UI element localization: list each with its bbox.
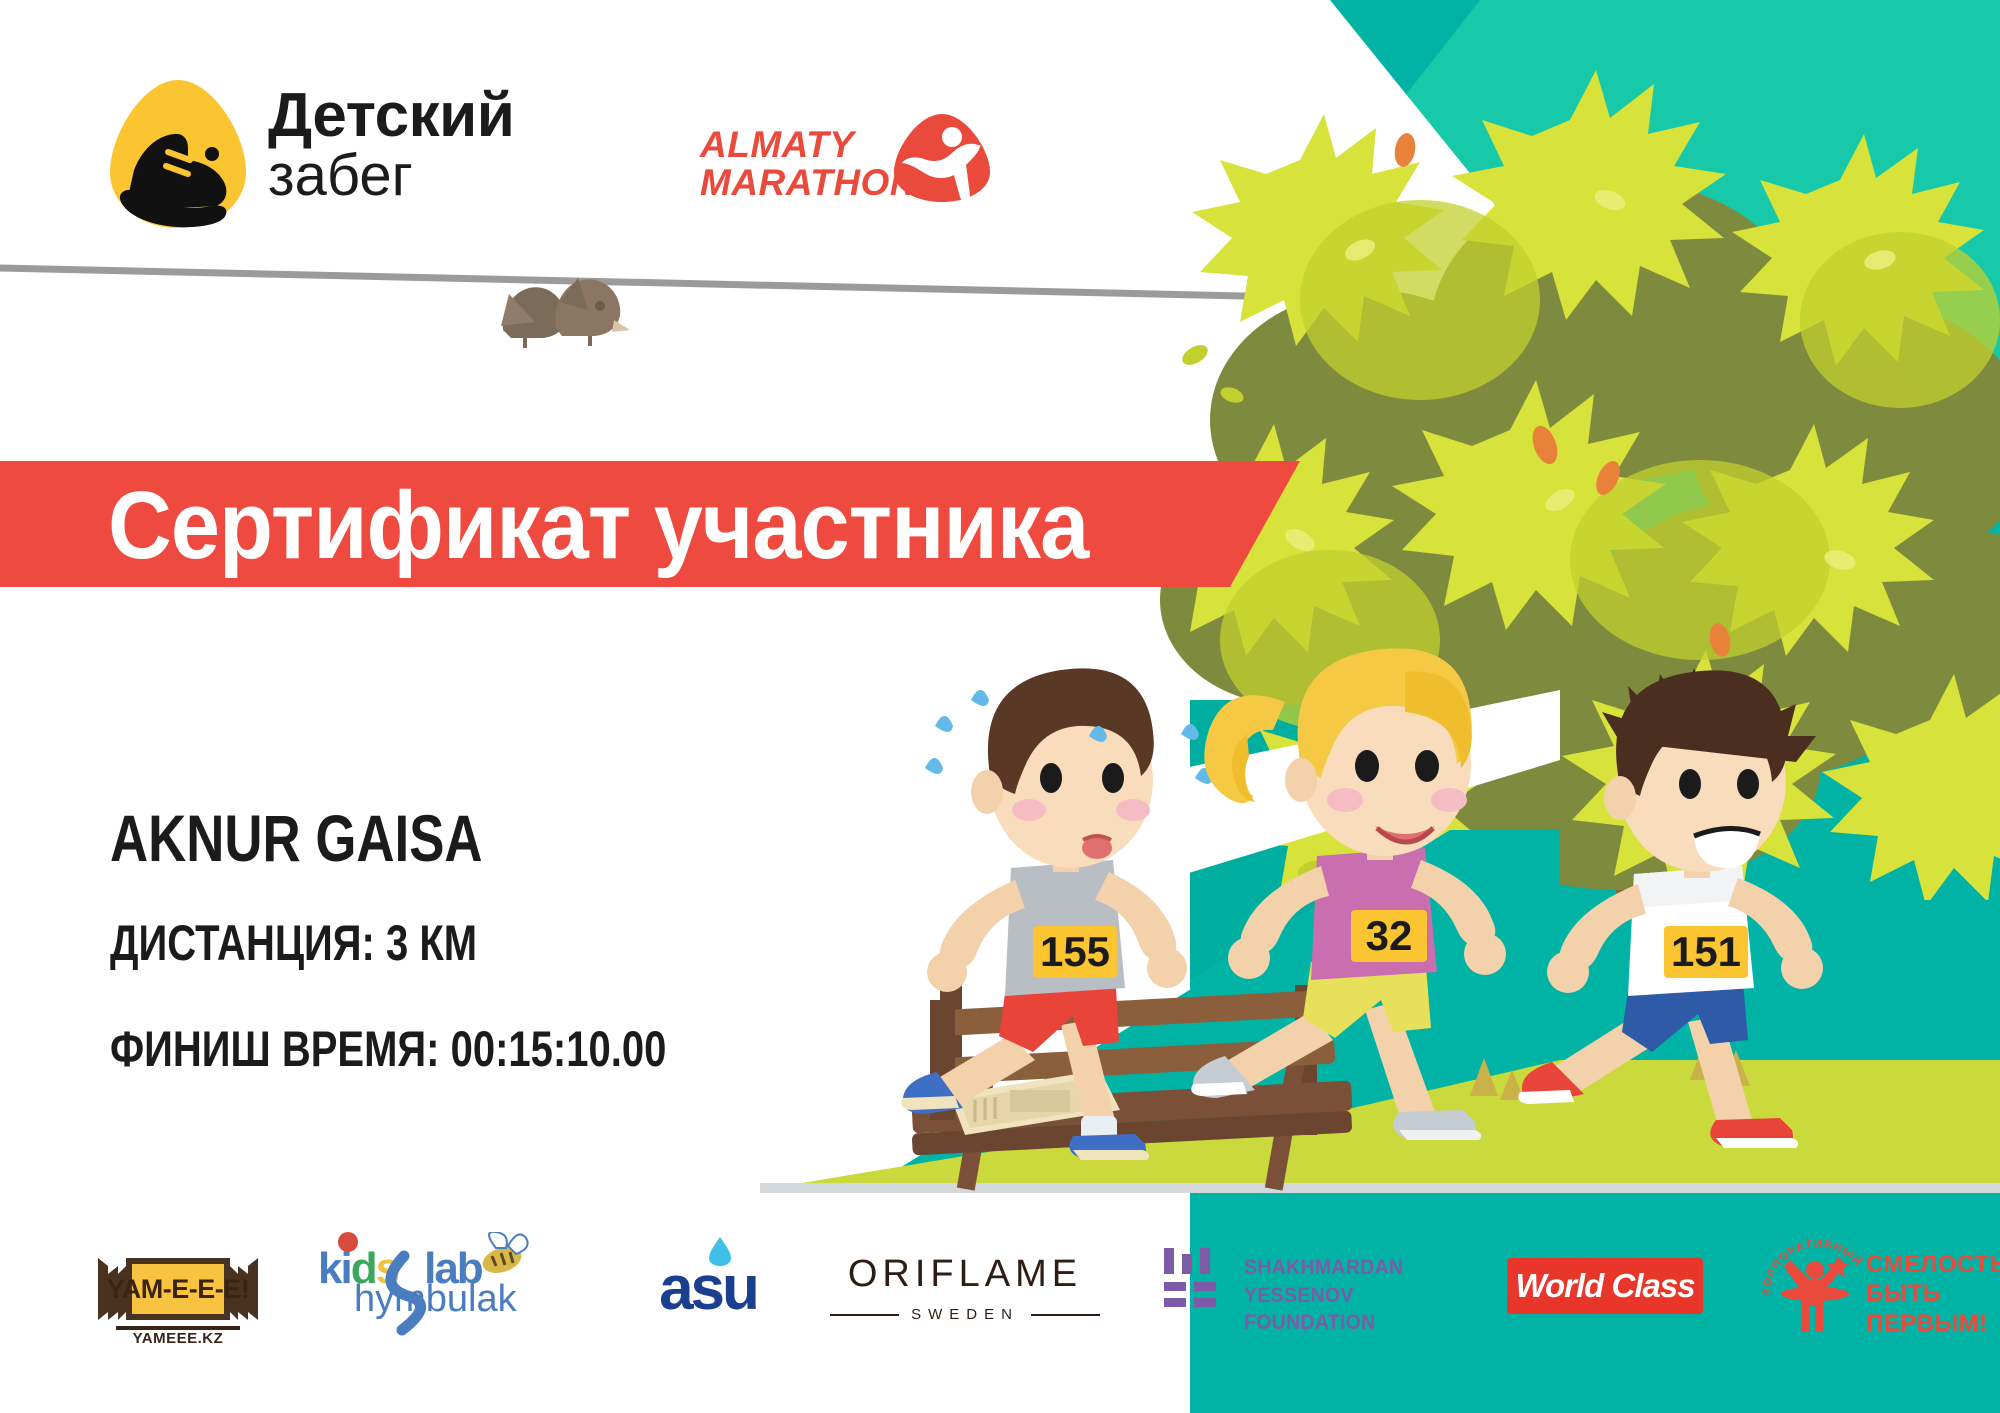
kids-run-wordmark: Детский забег	[268, 86, 558, 205]
participant-info: AKNUR GAISA ДИСТАНЦИЯ: 3 КМ ФИНИШ ВРЕМЯ:…	[110, 800, 930, 1126]
sponsor-logo-asu: asu	[628, 1238, 788, 1338]
sponsor-logo-kidslab: kidslab hymbulak	[318, 1226, 538, 1356]
worldclass-wordmark: World Class	[1515, 1267, 1694, 1305]
title-banner: Сертификат участника	[0, 461, 1300, 587]
sponsor-logo-yessenov: SHAKHMARDAN YESSENOV FOUNDATION	[1160, 1242, 1460, 1337]
almaty-line1: ALMATY	[700, 126, 900, 164]
sponsor-strip: YAM-E-E-E! YAMEEE.KZ kidslab hymbulak	[0, 1232, 2000, 1357]
oriflame-country: SWEDEN	[911, 1306, 1019, 1323]
worldclass-box: World Class	[1507, 1258, 1703, 1314]
svg-text:155: 155	[1040, 928, 1110, 975]
yameee-wrapper: YAM-E-E-E! YAMEEE.KZ	[94, 1252, 262, 1326]
oriflame-rule-right	[1031, 1314, 1100, 1316]
smelost-line2: БЫТЬ	[1866, 1279, 2000, 1308]
sponsor-logo-oriflame: ORIFLAME SWEDEN	[830, 1238, 1100, 1338]
certificate-title: Сертификат участника	[108, 471, 1088, 581]
yessenov-line2: FOUNDATION	[1244, 1309, 1445, 1337]
svg-text:32: 32	[1366, 912, 1413, 959]
yessenov-bars-icon	[1160, 1248, 1224, 1320]
participant-finish-time: ФИНИШ ВРЕМЯ: 00:15:10.00	[110, 1020, 766, 1078]
svg-text:151: 151	[1671, 928, 1741, 975]
yessenov-line1: SHAKHMARDAN YESSENOV	[1244, 1254, 1445, 1309]
sponsor-logo-worldclass: World Class	[1500, 1250, 1710, 1322]
oriflame-wordmark: ORIFLAME	[830, 1253, 1100, 1296]
certificate-canvas: 155	[0, 0, 2000, 1413]
kids-run-line2: забег	[268, 147, 558, 205]
almaty-marathon-logo: ALMATY MARATHON	[700, 112, 1000, 222]
oriflame-sub-row: SWEDEN	[830, 1306, 1100, 1323]
kids-run-line1: Детский	[268, 86, 558, 147]
bee-icon	[479, 1232, 527, 1278]
kidslab-swoosh-icon	[318, 1232, 538, 1352]
sponsor-logo-smelost: КОРПОРАТИВНЫЙ ФОНД СМЕЛОСТЬ БЫТЬ ПЕРВЫМ!	[1760, 1228, 2000, 1358]
smelost-line1: СМЕЛОСТЬ	[1866, 1250, 2000, 1279]
smelost-line3: ПЕРВЫМ!	[1866, 1309, 2000, 1338]
smelost-wordmark: СМЕЛОСТЬ БЫТЬ ПЕРВЫМ!	[1866, 1250, 2000, 1338]
running-figure-icon	[892, 112, 992, 204]
almaty-line2: MARATHON	[700, 164, 900, 202]
kids-run-logo: Детский забег	[108, 78, 358, 238]
almaty-marathon-wordmark: ALMATY MARATHON	[700, 126, 900, 202]
sponsor-logo-yameee: YAM-E-E-E! YAMEEE.KZ	[88, 1234, 268, 1344]
yessenov-wordmark: SHAKHMARDAN YESSENOV FOUNDATION	[1244, 1254, 1445, 1337]
participant-name: AKNUR GAISA	[110, 800, 766, 876]
water-drop-icon	[707, 1235, 733, 1267]
participant-distance: ДИСТАНЦИЯ: 3 КМ	[110, 914, 766, 972]
oriflame-rule-left	[830, 1314, 899, 1316]
yameee-domain: YAMEEE.KZ	[94, 1330, 262, 1347]
smelost-figure-icon: КОРПОРАТИВНЫЙ ФОНД	[1760, 1232, 1870, 1342]
sneaker-icon	[108, 78, 248, 230]
yameee-label: YAM-E-E-E!	[94, 1252, 262, 1326]
